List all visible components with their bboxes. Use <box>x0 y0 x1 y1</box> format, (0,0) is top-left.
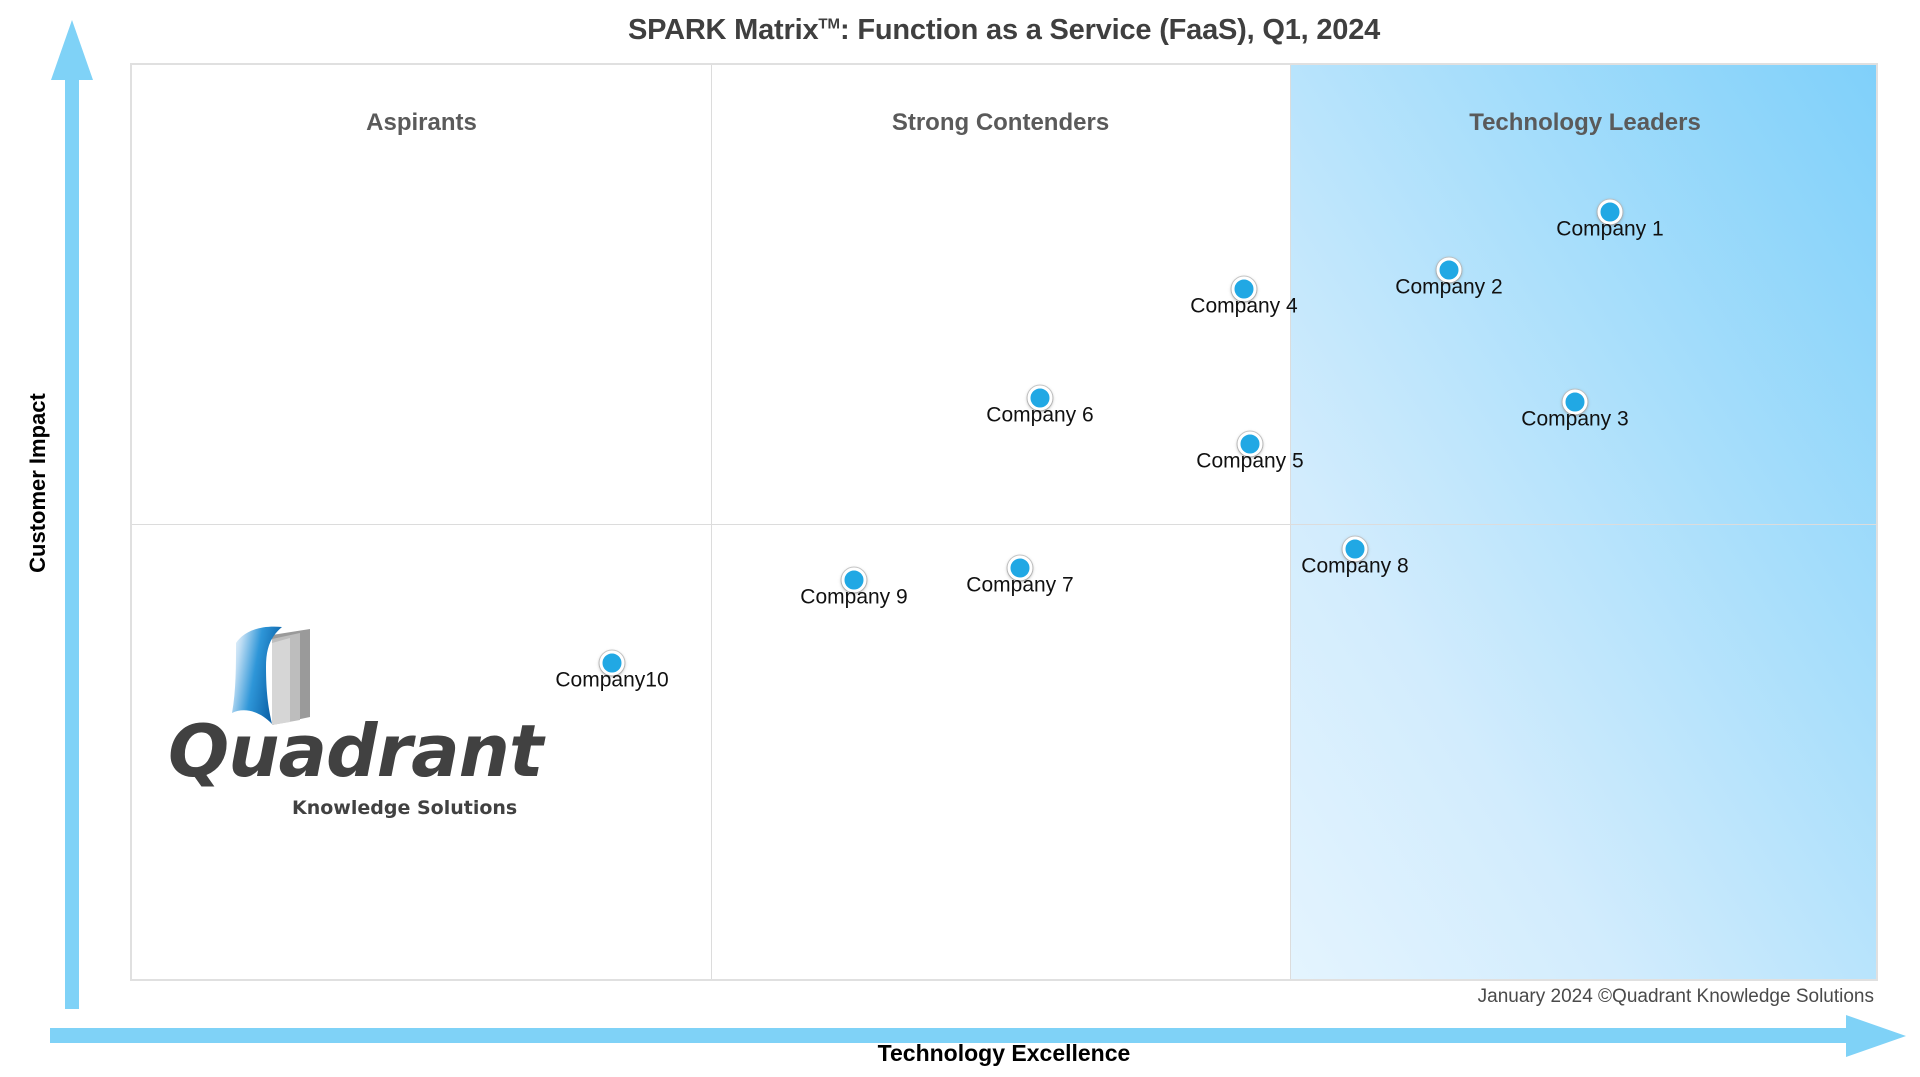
data-point-company-3[interactable]: Company 3 <box>1563 390 1588 415</box>
quadrant-header-technology-leaders: Technology Leaders <box>1290 109 1878 137</box>
plot-area: Aspirants Strong Contenders Technology L… <box>130 63 1878 981</box>
logo-tagline: Knowledge Solutions <box>292 797 517 819</box>
data-point-company-5[interactable]: Company 5 <box>1238 432 1263 457</box>
data-point-label: Company 4 <box>1190 295 1297 319</box>
chart-title-prefix: SPARK Matrix <box>628 14 818 46</box>
quadrant-header-strong-contenders: Strong Contenders <box>711 109 1290 137</box>
data-point-label: Company 5 <box>1196 450 1303 474</box>
data-point-label: Company10 <box>555 669 668 693</box>
chart-title-suffix: : Function as a Service (FaaS), Q1, 2024 <box>840 14 1380 46</box>
trademark-symbol: TM <box>818 15 840 32</box>
data-point-label: Company 1 <box>1556 218 1663 242</box>
data-point-company-10[interactable]: Company10 <box>600 651 625 676</box>
technology-leaders-shading <box>1290 65 1878 981</box>
copyright-notice: January 2024 ©Quadrant Knowledge Solutio… <box>1478 986 1874 1008</box>
data-point-company-4[interactable]: Company 4 <box>1232 277 1257 302</box>
data-point-company-2[interactable]: Company 2 <box>1437 258 1462 283</box>
quadrant-divider-horizontal <box>132 524 1878 525</box>
data-point-label: Company 9 <box>800 586 907 610</box>
data-point-label: Company 2 <box>1395 276 1502 300</box>
data-point-label: Company 7 <box>966 574 1073 598</box>
data-point-company-9[interactable]: Company 9 <box>842 568 867 593</box>
x-axis-label: Technology Excellence <box>130 1040 1878 1067</box>
logo-wordmark: Quadrant <box>168 715 542 787</box>
quadrant-divider-vertical-left <box>711 65 712 981</box>
chart-title: SPARK MatrixTM: Function as a Service (F… <box>130 14 1878 47</box>
data-point-label: Company 8 <box>1301 555 1408 579</box>
quadrant-logo: Quadrant Knowledge Solutions <box>172 625 502 790</box>
data-point-label: Company 3 <box>1521 408 1628 432</box>
data-point-label: Company 6 <box>986 404 1093 428</box>
data-point-company-6[interactable]: Company 6 <box>1028 386 1053 411</box>
spark-matrix-chart: SPARK MatrixTM: Function as a Service (F… <box>0 0 1920 1077</box>
y-axis-label: Customer Impact <box>25 353 51 613</box>
quadrant-divider-vertical-right <box>1290 65 1291 981</box>
y-axis-arrow-icon <box>50 14 94 1009</box>
data-point-company-7[interactable]: Company 7 <box>1008 556 1033 581</box>
data-point-company-1[interactable]: Company 1 <box>1598 200 1623 225</box>
quadrant-header-aspirants: Aspirants <box>132 109 711 137</box>
data-point-company-8[interactable]: Company 8 <box>1343 537 1368 562</box>
